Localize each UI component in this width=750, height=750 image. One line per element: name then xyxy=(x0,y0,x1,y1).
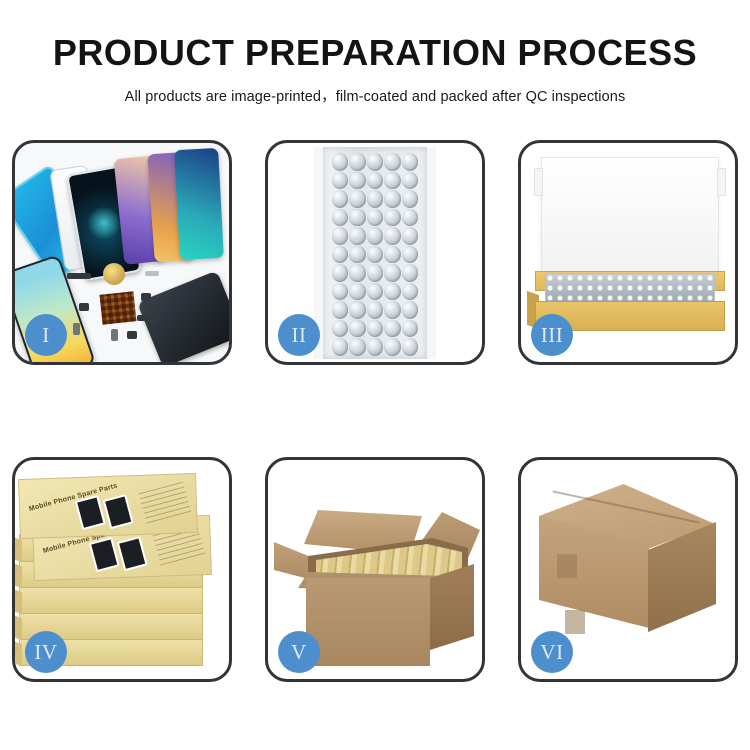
mailer-lid-flap xyxy=(541,157,719,277)
step-badge-3: III xyxy=(531,314,573,356)
header: PRODUCT PREPARATION PROCESS All products… xyxy=(0,0,750,106)
page-subtitle: All products are image-printed，film-coat… xyxy=(0,85,750,106)
step-panel-2: II xyxy=(265,140,485,365)
camera-part xyxy=(111,329,118,341)
chip-array-part xyxy=(100,291,137,324)
flex-cable-part xyxy=(67,273,91,279)
carton-tape-mark-upper xyxy=(557,554,577,578)
step-badge-2: II xyxy=(278,314,320,356)
stacked-box xyxy=(19,586,203,614)
bubble-grid xyxy=(332,153,418,355)
ribbon-part xyxy=(145,271,159,276)
step-panel-1: I xyxy=(12,140,232,365)
top-box-lid-back: Mobile Phone Spare Parts xyxy=(18,473,198,539)
sim-tray-part xyxy=(127,331,137,339)
carton-tape-mark-lower xyxy=(565,610,585,634)
carton-side-face xyxy=(430,564,474,650)
carton-front-face xyxy=(306,578,430,666)
button-part xyxy=(141,293,151,301)
phone-gradient-teal xyxy=(174,148,224,260)
speaker-module-part xyxy=(103,263,125,285)
step-panel-5: V xyxy=(265,457,485,682)
pouch-body xyxy=(314,147,436,359)
step-panel-3: III xyxy=(518,140,738,365)
antenna-part xyxy=(137,315,161,321)
step-badge-5: V xyxy=(278,631,320,673)
connector-part xyxy=(73,323,80,335)
small-part xyxy=(79,303,89,311)
page-title: PRODUCT PREPARATION PROCESS xyxy=(0,34,750,72)
step-panel-6: VI xyxy=(518,457,738,682)
step-panel-4: Mobile Phone Spare Parts Mobile Phone Sp… xyxy=(12,457,232,682)
step-badge-1: I xyxy=(25,314,67,356)
process-steps-grid: I II xyxy=(12,140,738,682)
step-badge-6: VI xyxy=(531,631,573,673)
step-badge-4: IV xyxy=(25,631,67,673)
